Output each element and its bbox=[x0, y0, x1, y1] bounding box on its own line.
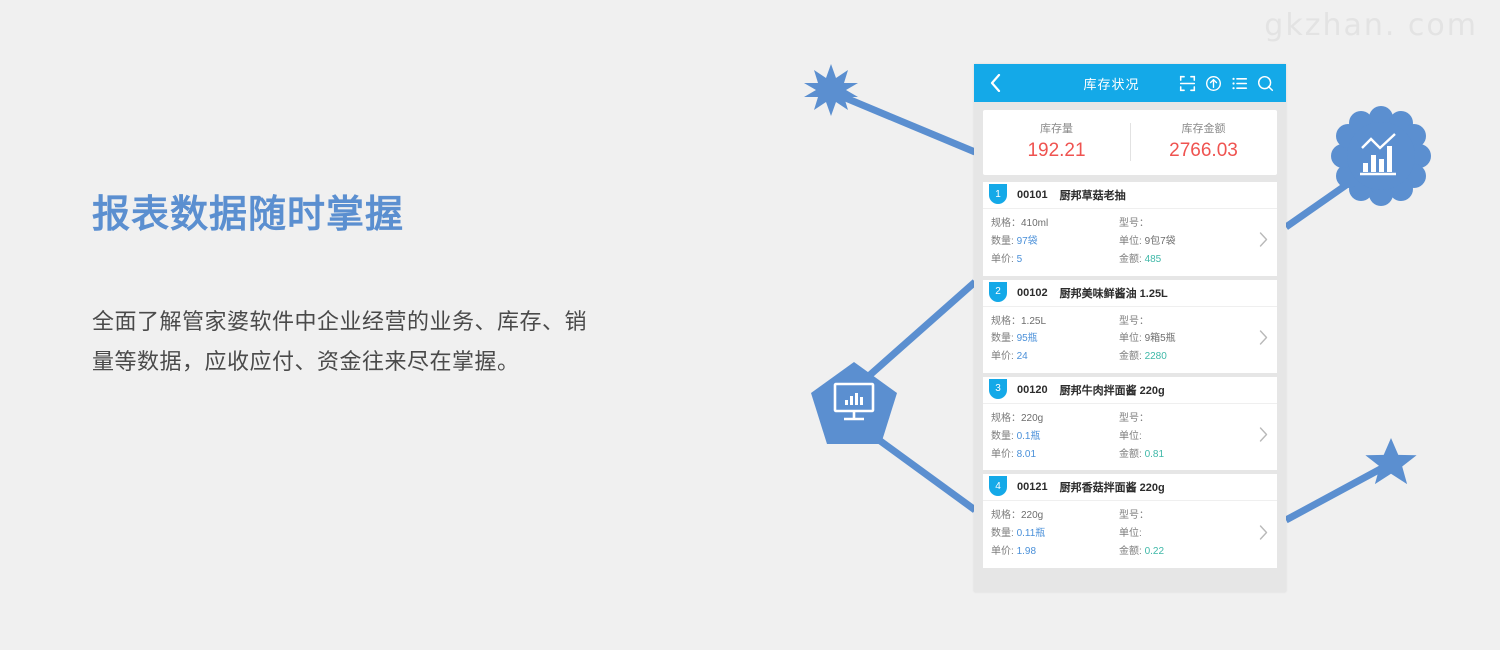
item-index-badge: 3 bbox=[989, 379, 1007, 399]
monitor-bar-chart-icon bbox=[835, 384, 873, 419]
label-price: 单价: bbox=[991, 254, 1014, 265]
list-item[interactable]: 4 00121 厨邦香菇拌面酱 220g 规格：220g 数量: 0.11瓶 单… bbox=[983, 474, 1277, 567]
list-item-header: 2 00102 厨邦美味鲜酱油 1.25L bbox=[983, 280, 1277, 307]
label-amount: 金额: bbox=[1119, 254, 1142, 265]
starburst-badge bbox=[804, 64, 858, 116]
item-qty-row: 数量: 0.1瓶 bbox=[991, 428, 1119, 446]
label-spec: 规格： bbox=[991, 218, 1021, 229]
summary-card: 库存量 192.21 库存金额 2766.03 bbox=[983, 110, 1277, 175]
list-item-body: 规格：220g 数量: 0.11瓶 单价: 1.98 型号： 单位: 金额: 0… bbox=[983, 501, 1277, 567]
label-amount: 金额: bbox=[1119, 449, 1142, 460]
summary-cell-stock-amount: 库存金额 2766.03 bbox=[1130, 121, 1277, 163]
value-spec: 220g bbox=[1021, 413, 1043, 424]
item-spec-row: 规格：220g bbox=[991, 410, 1119, 428]
label-unit: 单位: bbox=[1119, 236, 1142, 247]
chevron-right-icon[interactable] bbox=[1259, 427, 1268, 447]
value-unit: 9箱5瓶 bbox=[1145, 333, 1176, 344]
label-spec: 规格： bbox=[991, 316, 1021, 327]
value-price: 8.01 bbox=[1017, 449, 1036, 460]
page-title: 报表数据随时掌握 bbox=[92, 192, 632, 240]
item-col-left: 规格：220g 数量: 0.11瓶 单价: 1.98 bbox=[991, 507, 1119, 560]
upload-circle-icon[interactable] bbox=[1205, 75, 1222, 92]
label-unit: 单位: bbox=[1119, 333, 1142, 344]
summary-value: 2766.03 bbox=[1130, 138, 1277, 164]
item-qty-row: 数量: 97袋 bbox=[991, 233, 1119, 251]
item-code: 00120 bbox=[1017, 384, 1048, 396]
value-unit: 9包7袋 bbox=[1145, 236, 1176, 247]
value-amount: 2280 bbox=[1145, 351, 1167, 362]
app-title: 库存状况 bbox=[1006, 74, 1179, 93]
list-item-body: 规格：220g 数量: 0.1瓶 单价: 8.01 型号： 单位: 金额: 0.… bbox=[983, 404, 1277, 470]
item-index-badge: 1 bbox=[989, 184, 1007, 204]
label-model: 型号： bbox=[1119, 413, 1149, 424]
value-spec: 410ml bbox=[1021, 218, 1048, 229]
item-name: 厨邦美味鲜酱油 1.25L bbox=[1060, 285, 1168, 301]
item-name: 厨邦草菇老抽 bbox=[1060, 187, 1126, 203]
description-text: 全面了解管家婆软件中企业经营的业务、库存、销量等数据，应收应付、资金往来尽在掌握… bbox=[92, 240, 592, 383]
item-col-left: 规格：220g 数量: 0.1瓶 单价: 8.01 bbox=[991, 410, 1119, 463]
list-icon[interactable] bbox=[1231, 75, 1248, 92]
item-code: 00101 bbox=[1017, 189, 1048, 201]
value-qty: 97袋 bbox=[1017, 236, 1038, 247]
connector-line-mid-left-up bbox=[862, 282, 975, 382]
value-qty: 0.1瓶 bbox=[1017, 431, 1041, 442]
label-model: 型号： bbox=[1119, 218, 1149, 229]
summary-label: 库存金额 bbox=[1130, 121, 1277, 138]
star-badge bbox=[1365, 438, 1416, 484]
bar-chart-trend-icon bbox=[1360, 134, 1396, 174]
label-price: 单价: bbox=[991, 546, 1014, 557]
item-model-row: 型号： bbox=[1119, 410, 1249, 428]
label-qty: 数量: bbox=[991, 528, 1014, 539]
label-model: 型号： bbox=[1119, 510, 1149, 521]
chevron-left-icon[interactable] bbox=[984, 72, 1006, 94]
value-spec: 1.25L bbox=[1021, 316, 1046, 327]
list-item-header: 3 00120 厨邦牛肉拌面酱 220g bbox=[983, 377, 1277, 404]
phone-mockup: 库存状况 bbox=[974, 64, 1286, 592]
search-icon[interactable] bbox=[1257, 75, 1274, 92]
value-qty: 0.11瓶 bbox=[1017, 528, 1046, 539]
item-price-row: 单价: 8.01 bbox=[991, 446, 1119, 464]
item-name: 厨邦牛肉拌面酱 220g bbox=[1060, 382, 1165, 398]
item-col-right: 型号： 单位: 9包7袋 金额: 485 bbox=[1119, 215, 1249, 268]
summary-value: 192.21 bbox=[983, 138, 1130, 164]
label-amount: 金额: bbox=[1119, 351, 1142, 362]
item-amount-row: 金额: 0.22 bbox=[1119, 543, 1249, 561]
item-unit-row: 单位: 9箱5瓶 bbox=[1119, 330, 1249, 348]
item-index-badge: 2 bbox=[989, 282, 1007, 302]
label-qty: 数量: bbox=[991, 333, 1014, 344]
item-col-right: 型号： 单位: 金额: 0.81 bbox=[1119, 410, 1249, 463]
item-col-right: 型号： 单位: 金额: 0.22 bbox=[1119, 507, 1249, 560]
item-spec-row: 规格：410ml bbox=[991, 215, 1119, 233]
item-qty-row: 数量: 0.11瓶 bbox=[991, 525, 1119, 543]
header-actions bbox=[1179, 75, 1276, 92]
list-item[interactable]: 2 00102 厨邦美味鲜酱油 1.25L 规格：1.25L 数量: 95瓶 单… bbox=[983, 280, 1277, 373]
label-price: 单价: bbox=[991, 449, 1014, 460]
item-model-row: 型号： bbox=[1119, 313, 1249, 331]
label-amount: 金额: bbox=[1119, 546, 1142, 557]
item-code: 00121 bbox=[1017, 481, 1048, 493]
label-price: 单价: bbox=[991, 351, 1014, 362]
list-item[interactable]: 1 00101 厨邦草菇老抽 规格：410ml 数量: 97袋 单价: 5 型号… bbox=[983, 182, 1277, 275]
value-price: 24 bbox=[1017, 351, 1028, 362]
label-qty: 数量: bbox=[991, 236, 1014, 247]
value-spec: 220g bbox=[1021, 510, 1043, 521]
connector-line-bottom-right bbox=[1286, 466, 1386, 520]
item-price-row: 单价: 5 bbox=[991, 251, 1119, 269]
list-item[interactable]: 3 00120 厨邦牛肉拌面酱 220g 规格：220g 数量: 0.1瓶 单价… bbox=[983, 377, 1277, 470]
item-spec-row: 规格：220g bbox=[991, 507, 1119, 525]
item-unit-row: 单位: bbox=[1119, 525, 1249, 543]
item-price-row: 单价: 1.98 bbox=[991, 543, 1119, 561]
connector-line-top-left bbox=[836, 94, 975, 152]
item-unit-row: 单位: bbox=[1119, 428, 1249, 446]
summary-cell-stock-qty: 库存量 192.21 bbox=[983, 121, 1130, 163]
app-header: 库存状况 bbox=[974, 64, 1286, 102]
label-spec: 规格： bbox=[991, 413, 1021, 424]
monitor-bars bbox=[845, 393, 863, 405]
chevron-right-icon[interactable] bbox=[1259, 330, 1268, 350]
item-unit-row: 单位: 9包7袋 bbox=[1119, 233, 1249, 251]
item-model-row: 型号： bbox=[1119, 507, 1249, 525]
item-index-badge: 4 bbox=[989, 476, 1007, 496]
value-price: 5 bbox=[1017, 254, 1023, 265]
item-spec-row: 规格：1.25L bbox=[991, 313, 1119, 331]
item-amount-row: 金额: 0.81 bbox=[1119, 446, 1249, 464]
item-amount-row: 金额: 485 bbox=[1119, 251, 1249, 269]
item-qty-row: 数量: 95瓶 bbox=[991, 330, 1119, 348]
value-amount: 0.22 bbox=[1145, 546, 1164, 557]
pentagon-monitor-badge bbox=[811, 362, 897, 444]
label-unit: 单位: bbox=[1119, 528, 1142, 539]
item-name: 厨邦香菇拌面酱 220g bbox=[1060, 479, 1165, 495]
inventory-list: 1 00101 厨邦草菇老抽 规格：410ml 数量: 97袋 单价: 5 型号… bbox=[974, 182, 1286, 568]
item-col-right: 型号： 单位: 9箱5瓶 金额: 2280 bbox=[1119, 313, 1249, 366]
list-item-body: 规格：1.25L 数量: 95瓶 单价: 24 型号： 单位: 9箱5瓶 金额:… bbox=[983, 307, 1277, 373]
item-amount-row: 金额: 2280 bbox=[1119, 348, 1249, 366]
list-item-body: 规格：410ml 数量: 97袋 单价: 5 型号： 单位: 9包7袋 金额: … bbox=[983, 209, 1277, 275]
item-col-left: 规格：410ml 数量: 97袋 单价: 5 bbox=[991, 215, 1119, 268]
list-item-header: 1 00101 厨邦草菇老抽 bbox=[983, 182, 1277, 209]
chevron-right-icon[interactable] bbox=[1259, 232, 1268, 252]
label-spec: 规格： bbox=[991, 510, 1021, 521]
summary-section: 库存量 192.21 库存金额 2766.03 bbox=[974, 102, 1286, 182]
value-price: 1.98 bbox=[1017, 546, 1036, 557]
connector-line-mid-left-down bbox=[868, 432, 975, 510]
item-model-row: 型号： bbox=[1119, 215, 1249, 233]
scallop-chart-badge bbox=[1331, 106, 1431, 206]
item-col-left: 规格：1.25L 数量: 95瓶 单价: 24 bbox=[991, 313, 1119, 366]
list-item-header: 4 00121 厨邦香菇拌面酱 220g bbox=[983, 474, 1277, 501]
label-model: 型号： bbox=[1119, 316, 1149, 327]
chevron-right-icon[interactable] bbox=[1259, 525, 1268, 545]
site-watermark: gkzhan. com bbox=[1264, 8, 1478, 43]
scan-icon[interactable] bbox=[1179, 75, 1196, 92]
value-amount: 0.81 bbox=[1145, 449, 1164, 460]
item-price-row: 单价: 24 bbox=[991, 348, 1119, 366]
value-amount: 485 bbox=[1145, 254, 1162, 265]
item-code: 00102 bbox=[1017, 287, 1048, 299]
connector-line-top-right bbox=[1286, 167, 1372, 227]
marketing-copy: 报表数据随时掌握 全面了解管家婆软件中企业经营的业务、库存、销量等数据，应收应付… bbox=[92, 192, 632, 383]
summary-label: 库存量 bbox=[983, 121, 1130, 138]
label-unit: 单位: bbox=[1119, 431, 1142, 442]
value-qty: 95瓶 bbox=[1017, 333, 1038, 344]
label-qty: 数量: bbox=[991, 431, 1014, 442]
